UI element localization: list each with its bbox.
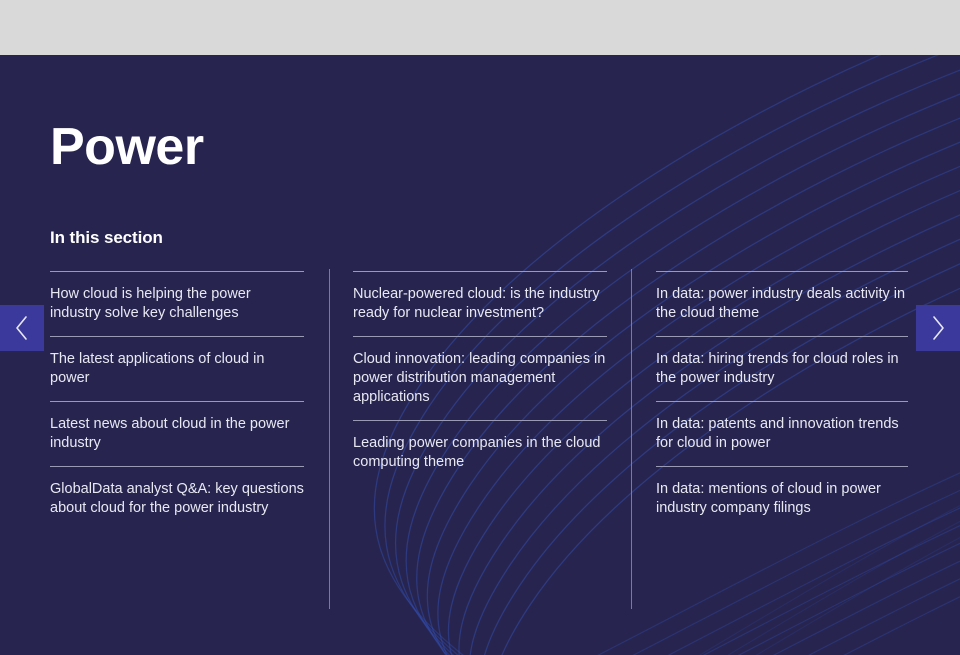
slide-canvas: Power In this section How cloud is helpi… (0, 55, 960, 655)
list-item[interactable]: Latest news about cloud in the power ind… (50, 401, 304, 466)
next-slide-button[interactable] (916, 305, 960, 351)
list-item[interactable]: In data: patents and innovation trends f… (656, 401, 908, 466)
chevron-right-icon (930, 315, 946, 341)
list-item[interactable]: How cloud is helping the power industry … (50, 271, 304, 336)
list-item[interactable]: Cloud innovation: leading companies in p… (353, 336, 607, 420)
list-item[interactable]: Leading power companies in the cloud com… (353, 420, 607, 476)
section-column-3: In data: power industry deals activity i… (656, 271, 908, 522)
list-item[interactable]: Nuclear-powered cloud: is the industry r… (353, 271, 607, 336)
section-links-columns: How cloud is helping the power industry … (0, 55, 960, 655)
top-toolbar-blank (0, 0, 960, 55)
section-column-1: How cloud is helping the power industry … (50, 271, 304, 522)
list-item[interactable]: In data: power industry deals activity i… (656, 271, 908, 336)
list-item[interactable]: The latest applications of cloud in powe… (50, 336, 304, 401)
slide-screen: Power In this section How cloud is helpi… (0, 0, 960, 655)
prev-slide-button[interactable] (0, 305, 44, 351)
list-item[interactable]: In data: mentions of cloud in power indu… (656, 466, 908, 522)
list-item[interactable]: GlobalData analyst Q&A: key questions ab… (50, 466, 304, 522)
chevron-left-icon (14, 315, 30, 341)
list-item[interactable]: In data: hiring trends for cloud roles i… (656, 336, 908, 401)
section-column-2: Nuclear-powered cloud: is the industry r… (353, 271, 607, 476)
